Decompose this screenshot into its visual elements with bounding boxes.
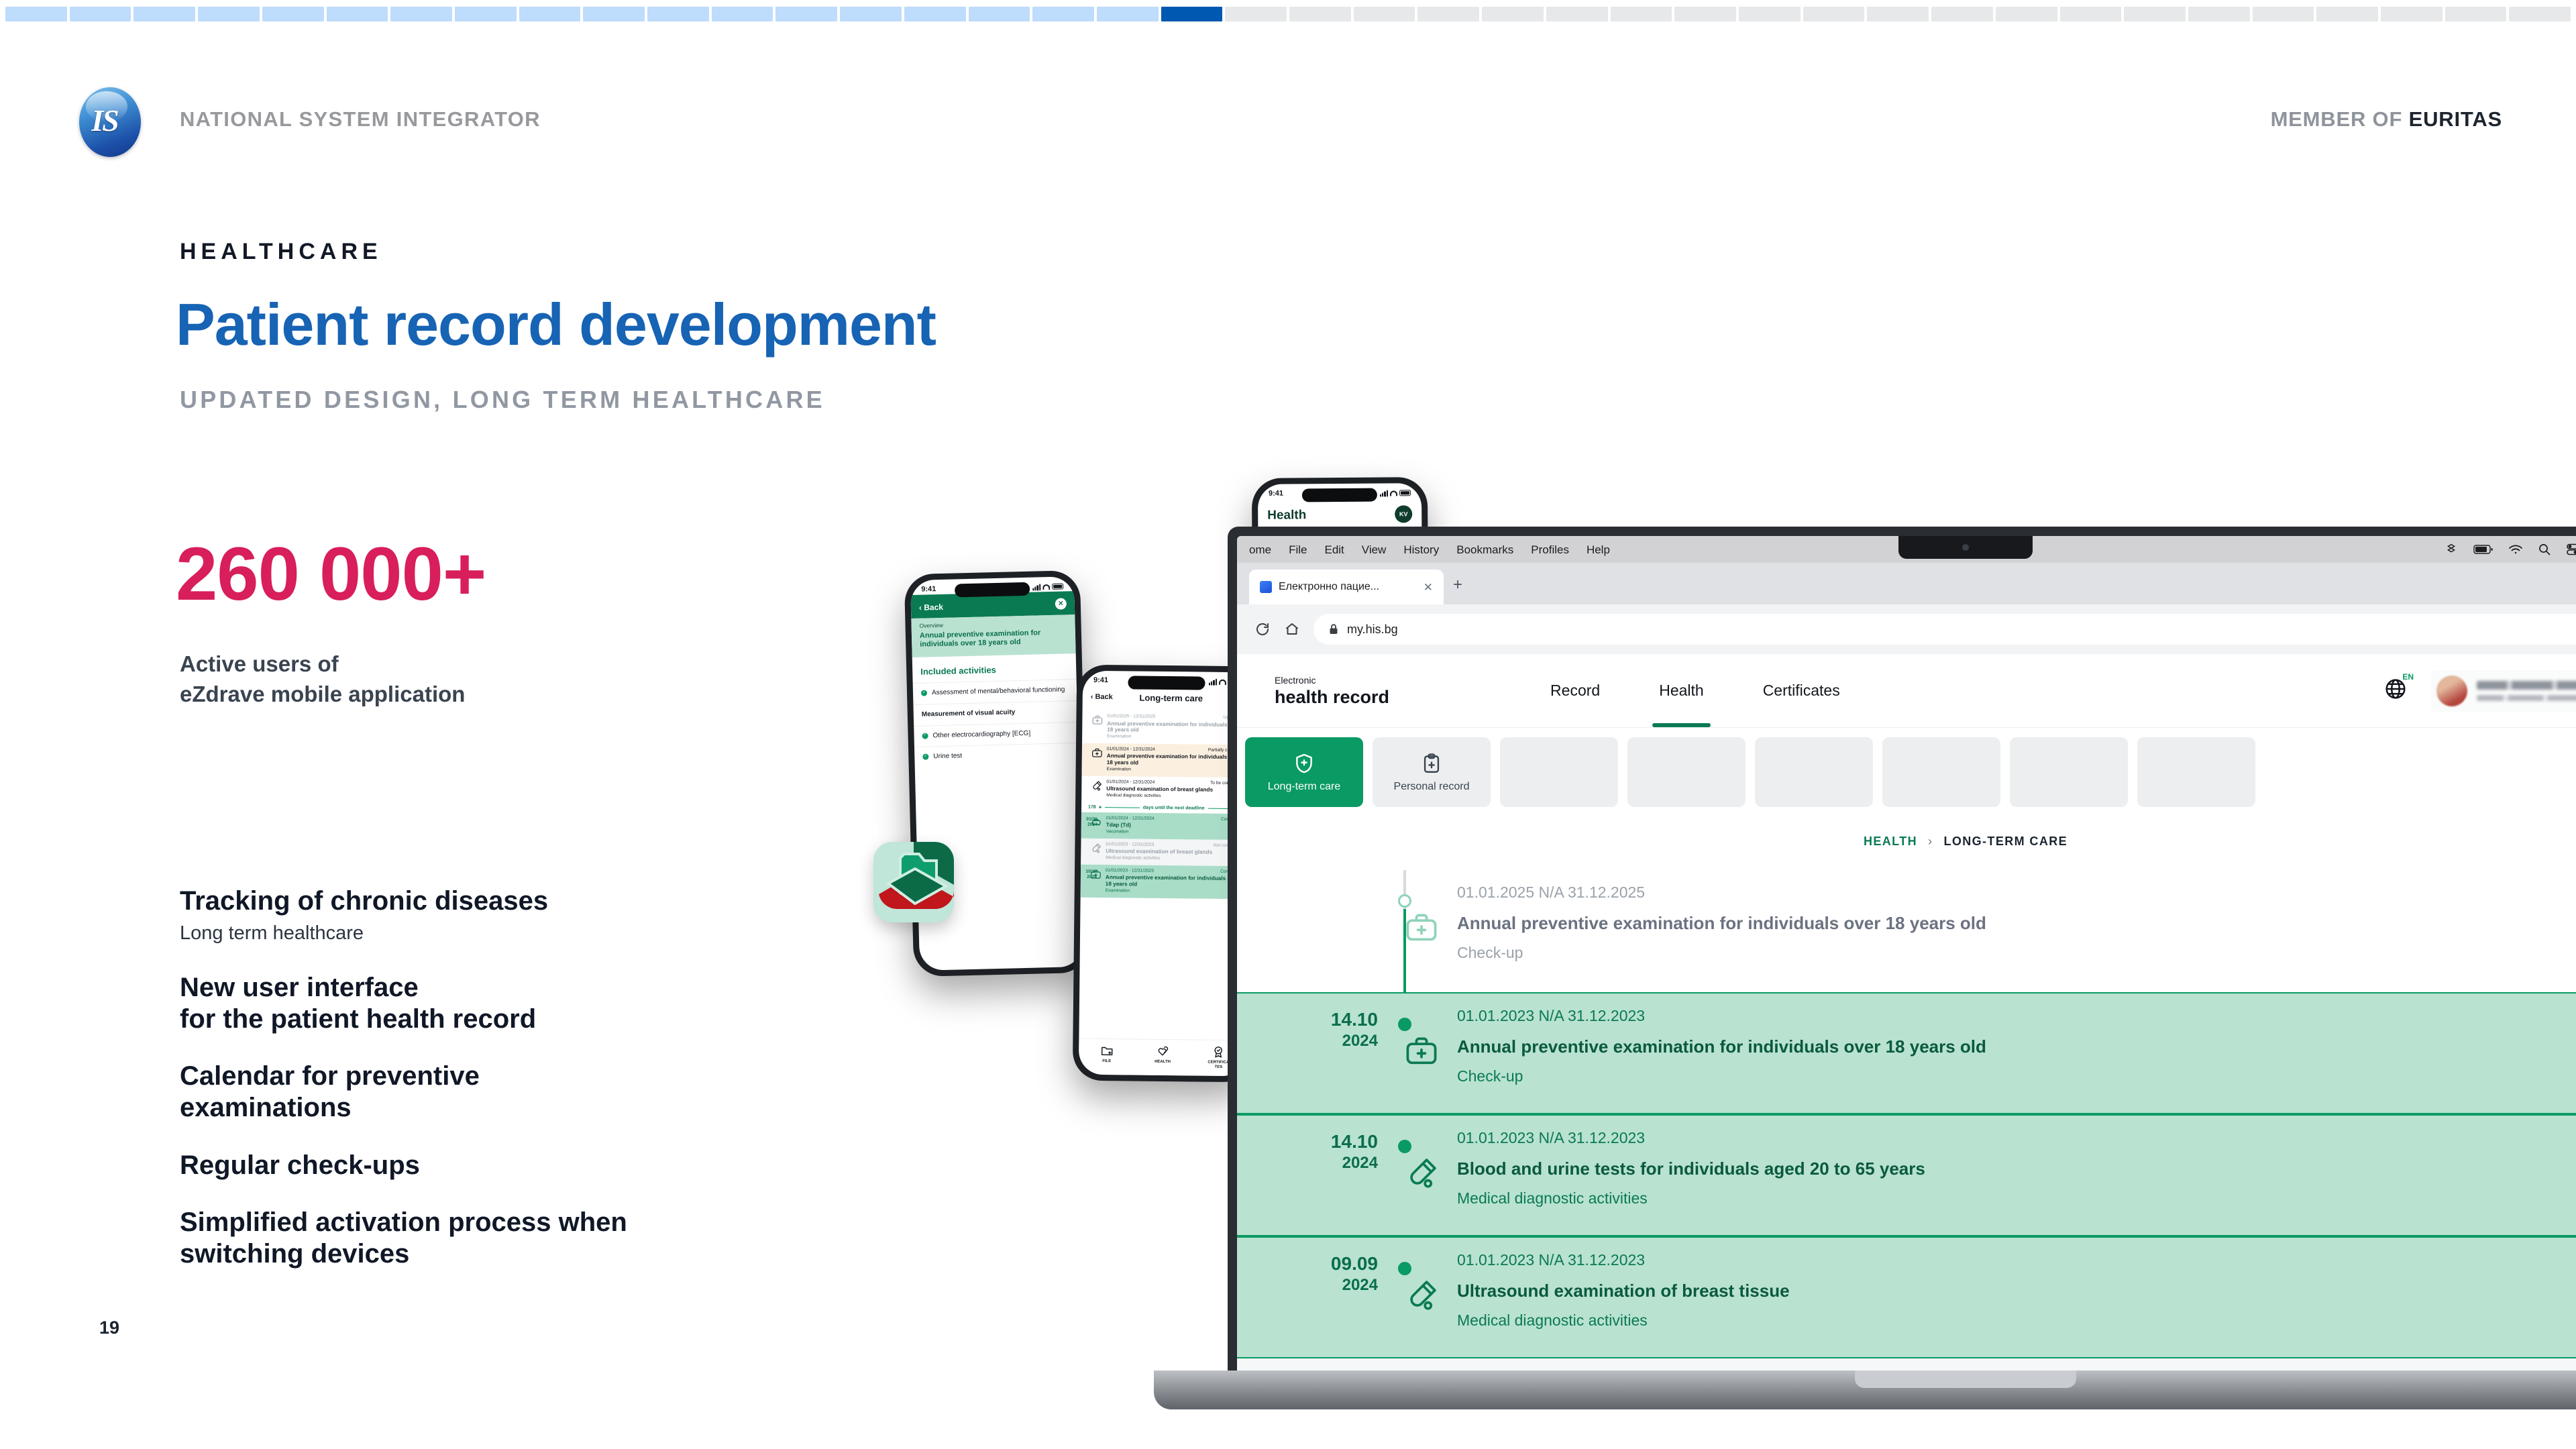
row-year: 2024 xyxy=(1237,1031,1378,1051)
row-date: 01/312024 xyxy=(1080,816,1097,827)
folder-icon xyxy=(1100,1044,1114,1057)
logo-letters: IS xyxy=(74,86,136,156)
nav-certificates[interactable]: Certificates xyxy=(1763,654,1840,727)
timeline-marker xyxy=(1398,894,1411,908)
breadcrumb-current: LONG-TERM CARE xyxy=(1943,835,2068,847)
row-range: 01/01/2024 - 12/31/2024 xyxy=(1107,747,1155,752)
phone2-tabbar: FILEHEALTHCERTIFICATES xyxy=(1079,1038,1247,1076)
progress-segment xyxy=(2188,7,2250,21)
wifi-icon xyxy=(1390,490,1397,496)
feature-subtitle: Long term healthcare xyxy=(180,921,918,947)
language-switcher[interactable]: EN xyxy=(2383,676,2408,705)
reload-icon[interactable] xyxy=(1254,621,1271,637)
slide-progress-bar xyxy=(0,7,2576,21)
activity-label: Assessment of mental/behavioral function… xyxy=(932,686,1065,698)
breadcrumb: HEALTH › LONG-TERM CARE xyxy=(1237,835,2576,847)
progress-segment xyxy=(1803,7,1865,21)
tab-label: CERTIFICATES xyxy=(1207,1061,1229,1069)
row-range: 01/01/2023 - 12/31/2023 xyxy=(1106,843,1154,847)
timeline-row[interactable]: 10/14202401/01/2023 - 12/31/2023Complete… xyxy=(1081,865,1248,899)
menu-profiles[interactable]: Profiles xyxy=(1531,544,1569,555)
phone1-back-button[interactable]: ‹ Back xyxy=(919,602,943,611)
menu-file[interactable]: File xyxy=(1289,544,1307,555)
stat-caption-line1: Active users of xyxy=(180,649,465,680)
test-tube-icon xyxy=(1404,1156,1439,1191)
nav-health[interactable]: Health xyxy=(1659,654,1703,727)
home-icon[interactable] xyxy=(1284,621,1300,637)
row-name: Annual preventive examination for indivi… xyxy=(1106,875,1242,890)
timeline-row[interactable]: 01/31202401/01/2024 - 12/31/2024Complete… xyxy=(1081,812,1249,840)
notch xyxy=(1128,676,1205,690)
feature-item: Regular check-ups xyxy=(180,1150,918,1181)
row-range: 01/01/2025 - 12/31/2025 xyxy=(1107,714,1155,719)
timeline-marker xyxy=(1398,1018,1411,1031)
membership-prefix: MEMBER OF xyxy=(2271,107,2409,131)
brand-small: Electronic xyxy=(1275,676,1389,685)
row-category: Examination xyxy=(1106,889,1242,895)
health-record-app: Electronic health record RecordHealthCer… xyxy=(1237,654,2576,1372)
test-tube-icon xyxy=(1090,843,1102,854)
activity-label: Urine test xyxy=(933,753,962,762)
app-nav: RecordHealthCertificates xyxy=(1550,654,1840,727)
timeline-row[interactable]: 01.01.2022 N/A 31.12.2022Not completedAn… xyxy=(1237,1358,2576,1372)
company-logo: IS xyxy=(74,86,148,160)
progress-segment xyxy=(262,7,324,21)
app-brand: Electronic health record xyxy=(1275,676,1389,706)
row-category: Medical diagnostic activities xyxy=(1457,1313,2576,1328)
url-text: my.his.bg xyxy=(1347,623,1398,635)
user-chip[interactable] xyxy=(2431,670,2576,712)
progress-segment xyxy=(1739,7,1801,21)
timeline-row[interactable]: 01/01/2023 - 12/31/2023Not completedUltr… xyxy=(1081,839,1248,867)
play-icon: ▸ xyxy=(1099,805,1102,810)
care-timeline: 01.01.2025 N/A 31.12.2025UpcomingAnnual … xyxy=(1237,870,2576,1372)
progress-segment xyxy=(2509,7,2571,21)
progress-segment xyxy=(2316,7,2378,21)
avatar[interactable]: KV xyxy=(1395,505,1412,523)
user-info xyxy=(2477,681,2576,701)
row-category: Medical diagnostic activities xyxy=(1457,1191,2576,1206)
phone1-overview-label: Overview xyxy=(919,619,1067,629)
brand-big: health record xyxy=(1275,688,1389,706)
progress-segment xyxy=(647,7,709,21)
phone2-time: 9:41 xyxy=(1093,677,1108,684)
timeline-marker xyxy=(1398,1262,1411,1275)
progress-segment xyxy=(1097,7,1159,21)
page-number: 19 xyxy=(99,1319,119,1337)
progress-segment xyxy=(1354,7,1415,21)
battery-icon[interactable] xyxy=(2473,544,2493,555)
clipboard-plus-icon xyxy=(1420,752,1443,775)
wifi-icon xyxy=(1219,679,1226,684)
wifi-icon xyxy=(1042,584,1050,589)
progress-segment xyxy=(70,7,131,21)
browser-toolbar: my.his.bg xyxy=(1237,604,2576,654)
wifi-icon[interactable] xyxy=(2508,544,2523,555)
camera-notch xyxy=(1898,536,2033,559)
row-name: Annual preventive examination for indivi… xyxy=(1107,720,1243,735)
slide-subtitle: UPDATED DESIGN, LONG TERM HEALTHCARE xyxy=(180,388,825,412)
progress-segment xyxy=(2253,7,2314,21)
row-category: Vaccination xyxy=(1106,830,1242,836)
progress-segment xyxy=(904,7,966,21)
check-icon xyxy=(922,733,928,739)
signal-icon xyxy=(1380,490,1388,496)
feature-item: Calendar for preventive examinations xyxy=(180,1061,918,1124)
progress-segment xyxy=(583,7,645,21)
feature-list: Tracking of chronic diseasesLong term he… xyxy=(180,885,918,1295)
row-range: 01/01/2023 - 12/31/2023 xyxy=(1106,869,1154,873)
deadline-days: 178 xyxy=(1088,805,1096,810)
progress-segment xyxy=(969,7,1030,21)
notch xyxy=(1302,488,1377,502)
progress-segment xyxy=(1032,7,1094,21)
lock-icon xyxy=(1328,623,1339,635)
feature-title: Tracking of chronic diseases xyxy=(180,885,918,917)
search-icon[interactable] xyxy=(2538,543,2551,556)
tab-health[interactable]: HEALTH xyxy=(1134,1044,1191,1070)
row-name: Annual preventive examination for indivi… xyxy=(1457,912,2576,934)
phone1-overview-title: Annual preventive examination for indivi… xyxy=(920,628,1068,650)
row-date: 10/142024 xyxy=(1079,869,1097,880)
progress-segment xyxy=(775,7,837,21)
stat-caption-line2: eZdrave mobile application xyxy=(180,680,465,710)
category-pills: Long-term carePersonal record xyxy=(1237,728,2576,807)
progress-segment xyxy=(1417,7,1479,21)
check-icon xyxy=(921,690,927,696)
progress-segment xyxy=(1931,7,1993,21)
timeline-row[interactable]: 01/01/2024 - 12/31/2024Partially comple.… xyxy=(1082,743,1250,777)
tab-favicon-icon xyxy=(1260,581,1272,593)
progress-segment xyxy=(2445,7,2507,21)
dropbox-icon[interactable] xyxy=(2444,542,2459,557)
progress-segment xyxy=(1611,7,1672,21)
membership-note: MEMBER OF EURITAS xyxy=(2271,109,2502,129)
progress-segment xyxy=(1482,7,1544,21)
phone2-title: Long-term care xyxy=(1139,694,1203,703)
pill-label: Long-term care xyxy=(1268,782,1341,792)
row-date: 14.102024 xyxy=(1237,1130,1393,1173)
laptop-mockup: omeFileEditViewHistoryBookmarksProfilesH… xyxy=(1228,527,2576,1392)
nav-record[interactable]: Record xyxy=(1550,654,1600,727)
timeline-row[interactable]: 01/01/2024 - 12/31/2024To be completedUl… xyxy=(1081,775,1249,804)
phone2-back-button[interactable]: ‹ Back xyxy=(1091,694,1113,701)
pill-placeholder xyxy=(1755,737,1873,807)
avatar xyxy=(2436,676,2467,706)
progress-segment xyxy=(2381,7,2443,21)
progress-segment xyxy=(1674,7,1736,21)
row-range: 01.01.2025 N/A 31.12.2025 xyxy=(1457,885,1645,900)
phone3-title: Health xyxy=(1267,508,1306,521)
signal-icon xyxy=(1209,678,1217,685)
progress-segment xyxy=(1996,7,2057,21)
timeline-row[interactable]: 09.09202401.01.2023 N/A 31.12.2023Изпълн… xyxy=(1237,1236,2576,1358)
pill-label: Personal record xyxy=(1394,782,1470,792)
activity-label: Measurement of visual acuity xyxy=(922,708,1016,719)
new-tab-button[interactable]: + xyxy=(1453,576,1462,594)
activity-item[interactable]: Urine test xyxy=(914,743,1079,768)
certificate-icon xyxy=(1212,1045,1225,1059)
close-icon[interactable]: ✕ xyxy=(1055,598,1067,609)
row-range: 01/01/2024 - 12/31/2024 xyxy=(1106,816,1155,821)
progress-segment xyxy=(327,7,388,21)
pill-placeholder xyxy=(1627,737,1746,807)
phone1-section-title: Included activities xyxy=(912,653,1077,683)
row-date: 14.102024 xyxy=(1237,1008,1393,1051)
row-name: Blood and urine tests for individuals ag… xyxy=(1457,1158,2576,1180)
progress-segment xyxy=(2124,7,2186,21)
battery-icon xyxy=(1399,490,1411,496)
progress-segment xyxy=(198,7,260,21)
row-range: 01/01/2024 - 12/31/2024 xyxy=(1106,780,1155,785)
phone3-header: Health KV xyxy=(1258,498,1421,530)
browser-tab[interactable]: Електронно пацие... ✕ xyxy=(1249,570,1444,604)
tab-file[interactable]: FILE xyxy=(1079,1044,1135,1069)
menu-view[interactable]: View xyxy=(1362,544,1387,555)
macos-status-items: Mo June 22 xyxy=(2444,542,2576,557)
pill-placeholder xyxy=(2010,737,2128,807)
phone2-timeline: 01/01/2025 - 12/31/2025UpcomingAnnual pr… xyxy=(1081,710,1250,899)
slide-eyebrow: HEALTHCARE xyxy=(180,240,382,263)
menu-bookmarks[interactable]: Bookmarks xyxy=(1456,544,1513,555)
feature-item: Simplified activation process when switc… xyxy=(180,1207,918,1270)
progress-segment xyxy=(712,7,773,21)
app-header-right: EN xyxy=(2383,670,2576,712)
feature-title: New user interface for the patient healt… xyxy=(180,972,918,1035)
user-name-redacted xyxy=(2477,681,2576,690)
language-code: EN xyxy=(2402,673,2414,681)
feature-title: Regular check-ups xyxy=(180,1150,918,1181)
progress-segment xyxy=(519,7,581,21)
pill-placeholder xyxy=(1500,737,1618,807)
deadline-text: days until the next deadline xyxy=(1143,805,1205,810)
row-category: Medical diagnostic activities xyxy=(1106,794,1242,800)
progress-segment xyxy=(1225,7,1287,21)
test-tube-icon xyxy=(1404,1278,1439,1313)
row-year: 2024 xyxy=(1237,1275,1378,1295)
notch xyxy=(955,582,1030,598)
laptop-base xyxy=(1154,1371,2576,1409)
activity-label: Other electrocardiography [ECG] xyxy=(932,729,1030,740)
progress-segment xyxy=(1161,7,1223,21)
feature-title: Simplified activation process when switc… xyxy=(180,1207,918,1270)
shield-plus-icon xyxy=(1293,752,1316,775)
menu-help[interactable]: Help xyxy=(1587,544,1610,555)
row-range: 01.01.2023 N/A 31.12.2023 xyxy=(1457,1008,1645,1024)
row-category: Check-up xyxy=(1457,945,2576,961)
phone1-overview-card: Overview Annual preventive examination f… xyxy=(911,614,1075,657)
phone3-time: 9:41 xyxy=(1269,490,1283,498)
row-name: Annual preventive examination for indivi… xyxy=(1457,1036,2576,1058)
timeline-row[interactable]: 14.10202401.01.2023 N/A 31.12.2023Comple… xyxy=(1237,992,2576,1114)
check-icon xyxy=(922,754,928,760)
row-category: Check-up xyxy=(1457,1069,2576,1084)
row-name: Ultrasound examination of breast tissue xyxy=(1457,1280,2576,1302)
row-category: Examination xyxy=(1107,735,1243,741)
battery-icon xyxy=(1052,583,1063,589)
breadcrumb-parent[interactable]: HEALTH xyxy=(1864,835,1917,847)
menu-ome[interactable]: ome xyxy=(1249,544,1271,555)
page-title: Patient record development xyxy=(176,295,936,354)
slide-root: IS NATIONAL SYSTEM INTEGRATOR MEMBER OF … xyxy=(0,0,2576,1449)
progress-segment xyxy=(455,7,517,21)
timeline-row[interactable]: 01.01.2025 N/A 31.12.2025UpcomingAnnual … xyxy=(1237,870,2576,992)
browser-tabstrip: Електронно пацие... ✕ + xyxy=(1237,563,2576,604)
timeline-row[interactable]: 01/01/2025 - 12/31/2025UpcomingAnnual pr… xyxy=(1082,710,1250,745)
medical-bag-icon xyxy=(1404,1034,1439,1069)
progress-segment xyxy=(5,7,67,21)
user-dob-redacted xyxy=(2477,695,2576,701)
company-tagline: NATIONAL SYSTEM INTEGRATOR xyxy=(180,109,541,129)
signal-icon xyxy=(1032,584,1041,590)
pill-personal-record[interactable]: Personal record xyxy=(1373,737,1491,807)
progress-segment xyxy=(2060,7,2122,21)
pill-placeholder xyxy=(2137,737,2255,807)
menu-history[interactable]: History xyxy=(1403,544,1439,555)
address-bar[interactable]: my.his.bg xyxy=(1313,614,2576,645)
feature-item: Tracking of chronic diseasesLong term he… xyxy=(180,885,918,947)
app-header: Electronic health record RecordHealthCer… xyxy=(1237,654,2576,728)
membership-org: EURITAS xyxy=(2409,107,2502,131)
close-icon[interactable]: ✕ xyxy=(1424,582,1433,593)
medical-bag-icon xyxy=(1404,910,1439,945)
laptop-screen: omeFileEditViewHistoryBookmarksProfilesH… xyxy=(1237,536,2576,1372)
tab-label: HEALTH xyxy=(1155,1060,1171,1064)
pill-placeholder xyxy=(1882,737,2000,807)
stat-value: 260 000+ xyxy=(176,537,486,612)
tab-title: Електронно пацие... xyxy=(1279,582,1379,592)
progress-segment xyxy=(1546,7,1608,21)
medical-bag-icon xyxy=(1091,747,1103,759)
row-date: 09.092024 xyxy=(1237,1252,1393,1295)
chevron-right-icon: › xyxy=(1928,835,1933,847)
row-range: 01.01.2023 N/A 31.12.2023 xyxy=(1457,1252,1645,1268)
feature-title: Calendar for preventive examinations xyxy=(180,1061,918,1124)
heart-pills-icon xyxy=(1156,1044,1169,1058)
menu-edit[interactable]: Edit xyxy=(1324,544,1344,555)
progress-segment xyxy=(1289,7,1351,21)
progress-segment xyxy=(133,7,195,21)
progress-segment xyxy=(1867,7,1929,21)
row-range: 01.01.2023 N/A 31.12.2023 xyxy=(1457,1130,1645,1146)
tab-label: FILE xyxy=(1102,1059,1111,1063)
test-tube-icon xyxy=(1091,780,1102,792)
feature-item: New user interface for the patient healt… xyxy=(180,972,918,1035)
timeline-row[interactable]: 14.10202401.01.2023 N/A 31.12.2023Comple… xyxy=(1237,1114,2576,1236)
phone1-time: 9:41 xyxy=(921,586,936,594)
stat-caption: Active users of eZdrave mobile applicati… xyxy=(180,649,465,710)
row-year: 2024 xyxy=(1237,1153,1378,1173)
slide-header: IS NATIONAL SYSTEM INTEGRATOR MEMBER OF … xyxy=(0,94,2576,168)
phone1-activity-list: Assessment of mental/behavioral function… xyxy=(913,679,1079,768)
timeline-marker xyxy=(1398,1140,1411,1153)
pill-long-term-care[interactable]: Long-term care xyxy=(1245,737,1363,807)
progress-segment xyxy=(840,7,902,21)
medical-bag-icon xyxy=(1091,714,1103,726)
row-name: Annual preventive examination for indivi… xyxy=(1107,753,1243,768)
control-center-icon[interactable] xyxy=(2566,543,2576,556)
row-category: Examination xyxy=(1107,767,1243,773)
progress-segment xyxy=(390,7,452,21)
ezdrave-app-icon xyxy=(873,842,954,922)
row-category: Medical diagnostic activities xyxy=(1106,856,1242,862)
